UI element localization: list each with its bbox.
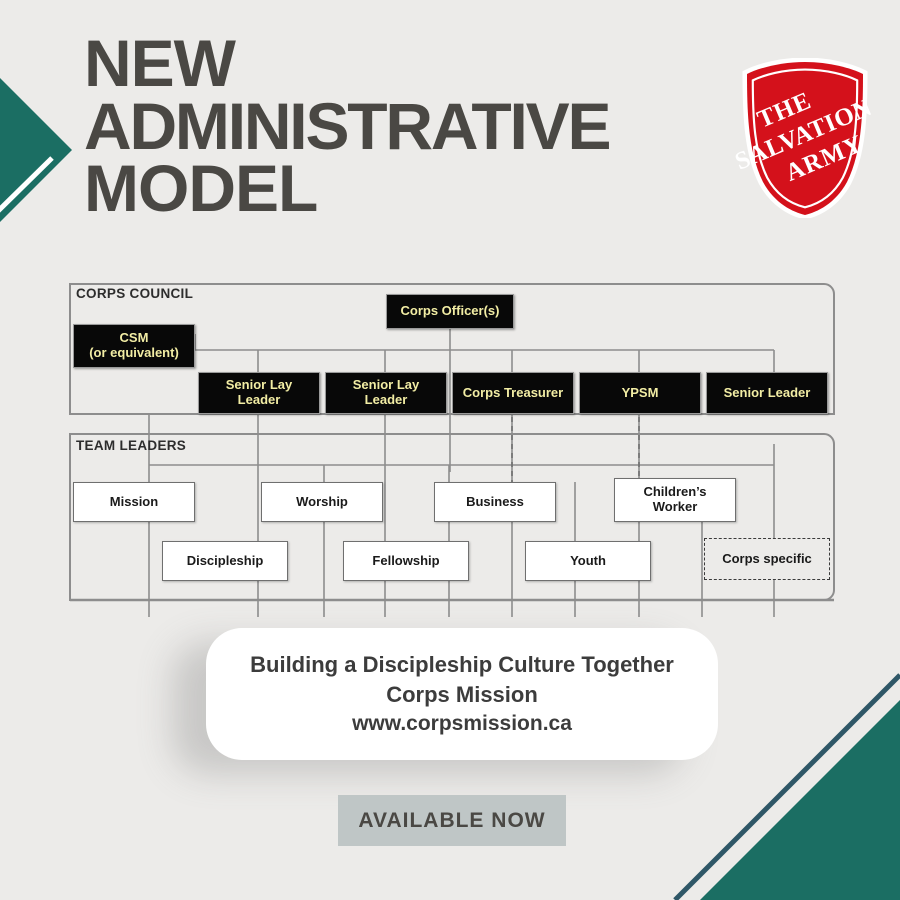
node-corps-treasurer-label: Corps Treasurer	[463, 386, 563, 401]
title-line-2: ADMINISTRATIVE	[84, 95, 734, 158]
available-now-button[interactable]: AVAILABLE NOW	[338, 795, 566, 846]
node-fellowship-label: Fellowship	[372, 554, 439, 569]
node-corps-officers[interactable]: Corps Officer(s)	[386, 294, 514, 329]
node-senior-lay-leader-2[interactable]: Senior Lay Leader	[325, 372, 447, 414]
promo-card: Building a Discipleship Culture Together…	[206, 628, 718, 760]
node-senior-lay-leader-1-line-2: Leader	[238, 393, 281, 408]
white-diagonal-accent-left	[0, 158, 52, 215]
node-corps-specific[interactable]: Corps specific	[704, 538, 830, 580]
node-csm-label-line-2: (or equivalent)	[89, 346, 179, 361]
title-line-3: MODEL	[84, 157, 734, 220]
promo-line-2: Corps Mission	[386, 682, 538, 708]
node-childrens-worker[interactable]: Children’s Worker	[614, 478, 736, 522]
node-discipleship[interactable]: Discipleship	[162, 541, 288, 581]
node-senior-lay-leader-1-line-1: Senior Lay	[226, 378, 292, 393]
node-csm-label-line-1: CSM	[120, 331, 149, 346]
node-youth-label: Youth	[570, 554, 606, 569]
node-senior-lay-leader-2-line-1: Senior Lay	[353, 378, 419, 393]
node-csm[interactable]: CSM (or equivalent)	[73, 324, 195, 368]
node-childrens-worker-line-1: Children’s	[643, 485, 706, 500]
node-senior-lay-leader-2-line-2: Leader	[365, 393, 408, 408]
node-youth[interactable]: Youth	[525, 541, 651, 581]
node-worship[interactable]: Worship	[261, 482, 383, 522]
promo-website-url[interactable]: www.corpsmission.ca	[352, 712, 572, 736]
available-now-label: AVAILABLE NOW	[358, 809, 545, 833]
node-ypsm[interactable]: YPSM	[579, 372, 701, 414]
node-fellowship[interactable]: Fellowship	[343, 541, 469, 581]
title-line-1: NEW	[84, 32, 734, 95]
node-mission-label: Mission	[110, 495, 158, 510]
page-title: NEW ADMINISTRATIVE MODEL	[84, 32, 734, 220]
node-senior-leader-label: Senior Leader	[724, 386, 811, 401]
node-ypsm-label: YPSM	[622, 386, 659, 401]
node-discipleship-label: Discipleship	[187, 554, 264, 569]
node-senior-leader[interactable]: Senior Leader	[706, 372, 828, 414]
node-corps-treasurer[interactable]: Corps Treasurer	[452, 372, 574, 414]
node-mission[interactable]: Mission	[73, 482, 195, 522]
node-worship-label: Worship	[296, 495, 348, 510]
promo-line-1: Building a Discipleship Culture Together	[250, 652, 674, 678]
salvation-army-shield-logo: THE SALVATION ARMY	[735, 58, 875, 218]
teal-triangle-left	[0, 78, 72, 222]
panel-label-corps-council: CORPS COUNCIL	[76, 286, 193, 301]
node-childrens-worker-line-2: Worker	[653, 500, 698, 515]
poster-canvas: NEW ADMINISTRATIVE MODEL THE SALVATION A…	[0, 0, 900, 900]
node-corps-specific-label: Corps specific	[722, 552, 812, 567]
node-business[interactable]: Business	[434, 482, 556, 522]
node-business-label: Business	[466, 495, 524, 510]
org-chart: CORPS COUNCIL TEAM LEADERS Corps Officer…	[62, 272, 852, 617]
node-corps-officers-label: Corps Officer(s)	[401, 304, 500, 319]
panel-label-team-leaders: TEAM LEADERS	[76, 438, 186, 453]
node-senior-lay-leader-1[interactable]: Senior Lay Leader	[198, 372, 320, 414]
teal-triangle-bottom-right	[700, 700, 900, 900]
